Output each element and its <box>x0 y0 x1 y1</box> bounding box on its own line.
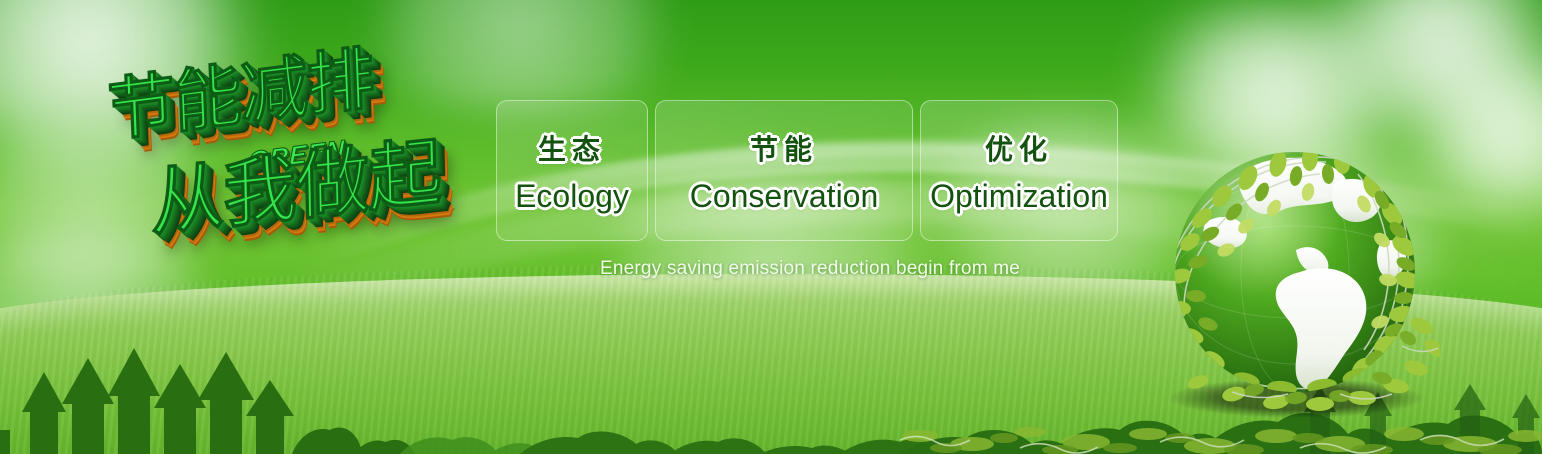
card-title-cn: 生态 <box>538 128 606 168</box>
card-title-en: Conservation <box>690 178 879 215</box>
forest-treeline-silhouette <box>0 334 560 454</box>
hero-headline: 节能减排 GREEN 从我做起 <box>90 25 502 282</box>
eco-banner: 节能减排 GREEN 从我做起 生态 Ecology 节能 Conservati… <box>0 0 1542 454</box>
card-title-cn: 优化 <box>985 128 1053 168</box>
card-title-cn: 节能 <box>750 128 818 168</box>
info-card-group: 生态 Ecology 节能 Conservation 优化 Optimizati… <box>496 100 1118 241</box>
info-card-conservation[interactable]: 节能 Conservation <box>655 100 913 241</box>
tagline: Energy saving emission reduction begin f… <box>496 258 1124 280</box>
info-card-ecology[interactable]: 生态 Ecology <box>496 100 648 241</box>
card-title-en: Ecology <box>515 178 629 215</box>
forest-treeline-silhouette <box>520 384 940 454</box>
leafy-green-earth-globe <box>1150 130 1440 420</box>
card-title-en: Optimization <box>930 178 1108 215</box>
info-card-optimization[interactable]: 优化 Optimization <box>920 100 1118 241</box>
